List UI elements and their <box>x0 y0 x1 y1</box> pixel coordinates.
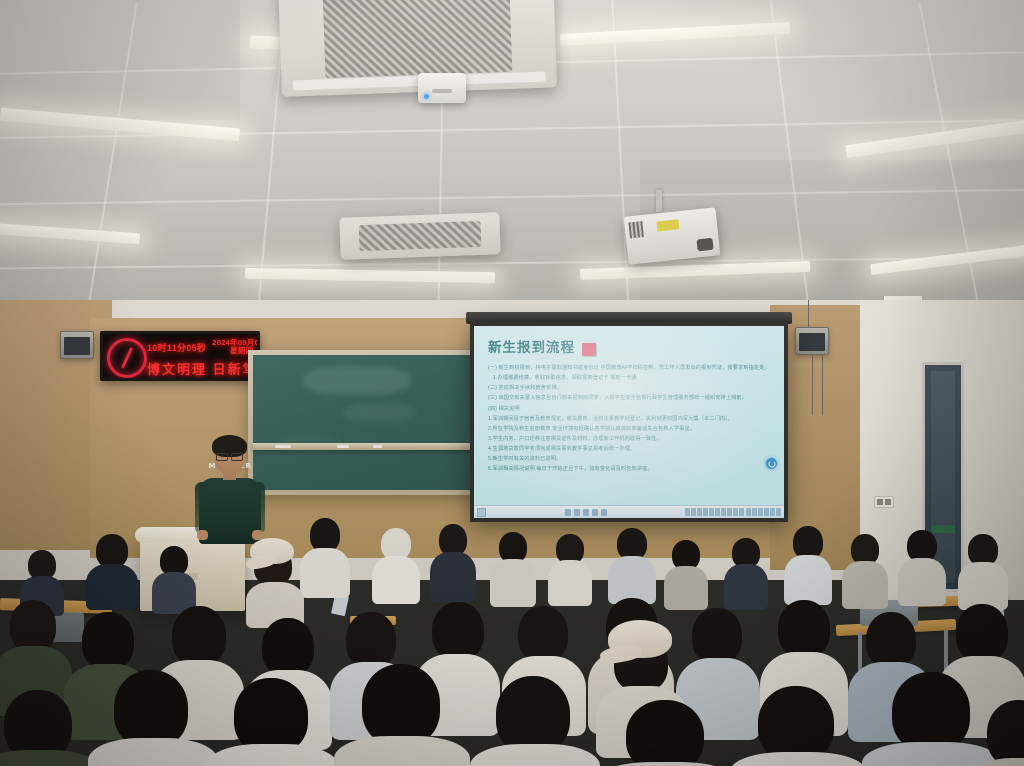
ceiling-projector <box>624 207 721 264</box>
student <box>86 534 138 604</box>
led-time: 10时11分05秒 <box>147 341 206 354</box>
wifi-access-point-icon <box>418 73 466 103</box>
glasses-icon <box>216 453 243 459</box>
taskbar-buttons-group[interactable] <box>685 508 744 516</box>
student <box>334 664 470 766</box>
slide-line: 3.学生内务、户口迁移注意相关证件及材料，办理新工作机构取得一致性。 <box>488 434 772 444</box>
right-wall-speaker <box>795 327 829 355</box>
student <box>596 700 736 766</box>
slide-line: 1.军训期间请于宿舍及教育规定，有关教育，全校任系教学处登记，失利就更校园内军大… <box>488 414 772 424</box>
speaker-wire <box>812 355 813 415</box>
student <box>975 700 1024 766</box>
student <box>0 690 100 766</box>
student <box>842 534 888 606</box>
student <box>608 528 656 600</box>
slide-badge-icon <box>582 343 596 356</box>
slide-line: 6.军训相关情况说明 每日于开始正且下午，如有变化请及时告知讲座。 <box>488 464 772 474</box>
student <box>88 670 218 766</box>
school-logo-icon <box>107 338 147 378</box>
chalk-tray <box>253 443 478 450</box>
student-with-cap <box>246 538 304 624</box>
slide-line: 5.新生学时有关的资料已说明。 <box>488 454 772 464</box>
window-icon[interactable] <box>565 509 571 516</box>
refresh-icon[interactable] <box>766 458 777 469</box>
speaker-wire <box>822 355 823 415</box>
slide-line: 1.办理缴费结算、收取补助信息、领取报到登记卡 报到一卡通 <box>488 373 772 383</box>
taskbar-tray-icons[interactable] <box>565 509 607 516</box>
student <box>206 678 338 766</box>
projection-screen: 新生报到流程 (一) 新生到校报到，持电子录取通知书或身份证 中国教育APP扫码… <box>470 322 788 522</box>
speaker-wire <box>808 300 809 328</box>
student <box>470 676 600 766</box>
slide-line: 2.所在学院及新生名册教育 安全环境有经确认各学院认真做好准备适先合各新入学事宜… <box>488 424 772 434</box>
projector-mount <box>656 190 662 212</box>
led-slogan: 博文明理 日新笃行 <box>147 359 255 378</box>
document-icon[interactable] <box>574 509 580 516</box>
folder-icon[interactable] <box>583 509 589 516</box>
student <box>300 518 350 594</box>
student <box>664 540 708 606</box>
led-scrolling-sign: 10时11分05秒 2024年09月05日 星期四 博文明理 日新笃行 <box>100 331 260 381</box>
taskbar-buttons-group-2[interactable] <box>746 508 781 516</box>
media-icon[interactable] <box>592 509 598 516</box>
presentation-slide: 新生报到流程 (一) 新生到校报到，持电子录取通知书或身份证 中国教育APP扫码… <box>474 326 784 518</box>
student <box>898 530 946 604</box>
student <box>958 534 1008 606</box>
left-wall-speaker <box>60 331 94 359</box>
student <box>724 538 768 606</box>
power-outlet <box>874 496 894 508</box>
student <box>730 686 866 766</box>
taskbar[interactable] <box>474 505 784 518</box>
slide-line: (一) 新生到校报到，持电子录取通知书或身份证 中国教育APP扫码签到，凭工作人… <box>488 363 772 373</box>
student <box>430 524 476 598</box>
student <box>548 534 592 602</box>
student <box>784 526 832 602</box>
presenter: MONSTER <box>196 438 264 546</box>
student <box>372 528 420 600</box>
slide-title: 新生报到流程 <box>488 336 575 356</box>
start-icon[interactable] <box>477 508 486 517</box>
slide-title-row: 新生报到流程 <box>488 336 772 356</box>
network-icon[interactable] <box>601 509 607 516</box>
ceiling <box>0 0 1024 330</box>
classroom-photo: 10时11分05秒 2024年09月05日 星期四 博文明理 日新笃行 <box>0 0 1024 766</box>
slide-body: (一) 新生到校报到，持电子录取通知书或身份证 中国教育APP扫码签到，凭工作人… <box>488 363 772 475</box>
slide-line: (四) 相关说明 <box>488 404 772 414</box>
student <box>152 546 196 608</box>
slide-line: (二) 完成相关手续和宿舍安排。 <box>488 383 772 393</box>
student <box>490 532 536 602</box>
slide-line: (三) 出国交有关录入信息且自行前来报到的同学，入校学生安全监督行政学生管理服务… <box>488 393 772 403</box>
chalkboard <box>248 350 483 495</box>
slide-line: 4.生源地贷款同学务须完成相关事务教学事总报考后统一办理。 <box>488 444 772 454</box>
air-conditioner-unit-second <box>339 212 500 260</box>
